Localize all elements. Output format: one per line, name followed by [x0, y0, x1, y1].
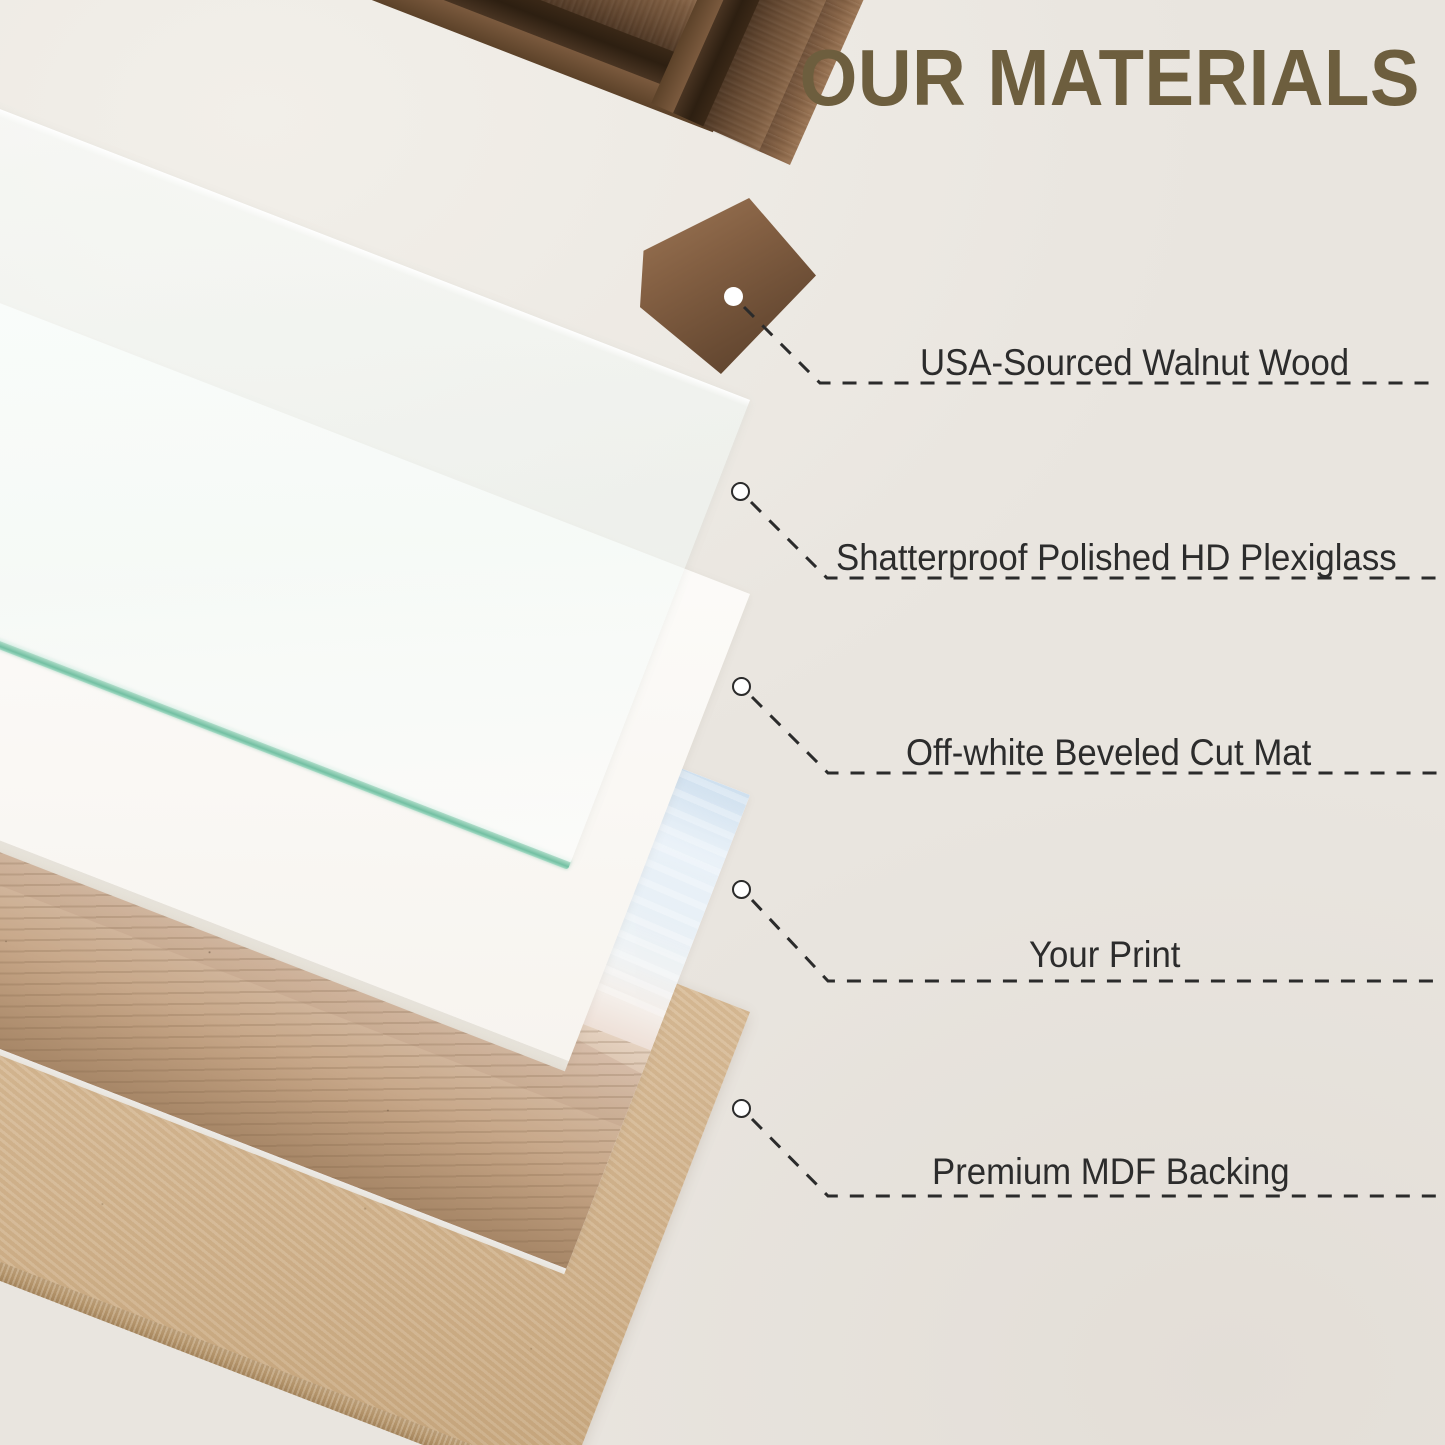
callout-label-mat: Off-white Beveled Cut Mat — [906, 734, 1311, 771]
callout-label-mdf-backing: Premium MDF Backing — [932, 1153, 1290, 1190]
callout-dot-print[interactable] — [732, 880, 751, 899]
callout-label-plexiglass: Shatterproof Polished HD Plexiglass — [836, 539, 1397, 576]
callout-dot-mdf-backing[interactable] — [732, 1099, 751, 1118]
product-materials-infographic: OUR MATERIALS USA-Sourced Walnut Wood Sh… — [0, 0, 1445, 1445]
wood-miter-corner — [640, 198, 816, 374]
callout-dot-mat[interactable] — [732, 677, 751, 696]
callout-label-walnut-wood: USA-Sourced Walnut Wood — [920, 344, 1349, 381]
page-title: OUR MATERIALS — [99, 38, 1420, 118]
callout-label-print: Your Print — [1029, 936, 1180, 973]
exploded-frame-stack — [0, 0, 1445, 1445]
callout-dot-plexiglass[interactable] — [731, 482, 750, 501]
callout-dot-walnut-wood[interactable] — [724, 287, 743, 306]
